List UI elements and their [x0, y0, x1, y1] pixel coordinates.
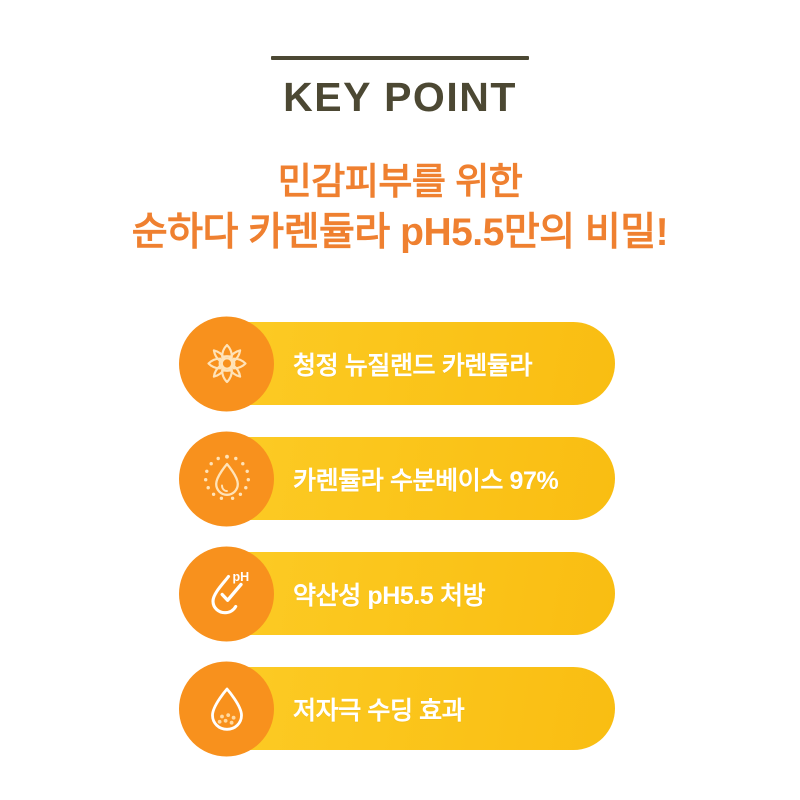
key-point-label: 저자극 수딩 효과	[293, 691, 464, 727]
key-point-item-ph[interactable]: pH 약산성 pH5.5 처방	[185, 552, 615, 635]
key-point-label: 청정 뉴질랜드 카렌듈라	[293, 346, 532, 382]
ph-icon-text: pH	[232, 570, 249, 584]
headline-line-1: 민감피부를 위한	[0, 158, 800, 207]
soothing-drop-bubbles-icon	[179, 661, 274, 756]
key-point-infographic: KEY POINT 민감피부를 위한 순하다 카렌듈라 pH5.5만의 비밀!	[0, 0, 800, 800]
calendula-flower-icon	[179, 316, 274, 411]
key-point-item-moisture-base[interactable]: 카렌듈라 수분베이스 97%	[185, 437, 615, 520]
headline: 민감피부를 위한 순하다 카렌듈라 pH5.5만의 비밀!	[0, 158, 800, 258]
page-title: KEY POINT	[0, 76, 800, 119]
header: KEY POINT	[0, 56, 800, 119]
key-point-item-soothing[interactable]: 저자극 수딩 효과	[185, 667, 615, 750]
water-drop-radiance-icon	[179, 431, 274, 526]
headline-line-2: 순하다 카렌듈라 pH5.5만의 비밀!	[0, 207, 800, 258]
key-point-label: 카렌듈라 수분베이스 97%	[293, 461, 558, 497]
key-point-item-calendula[interactable]: 청정 뉴질랜드 카렌듈라	[185, 322, 615, 405]
key-point-label: 약산성 pH5.5 처방	[293, 576, 485, 612]
key-point-list: 청정 뉴질랜드 카렌듈라	[0, 322, 800, 750]
header-rule-divider	[271, 56, 529, 60]
ph-check-drop-icon: pH	[179, 546, 274, 641]
